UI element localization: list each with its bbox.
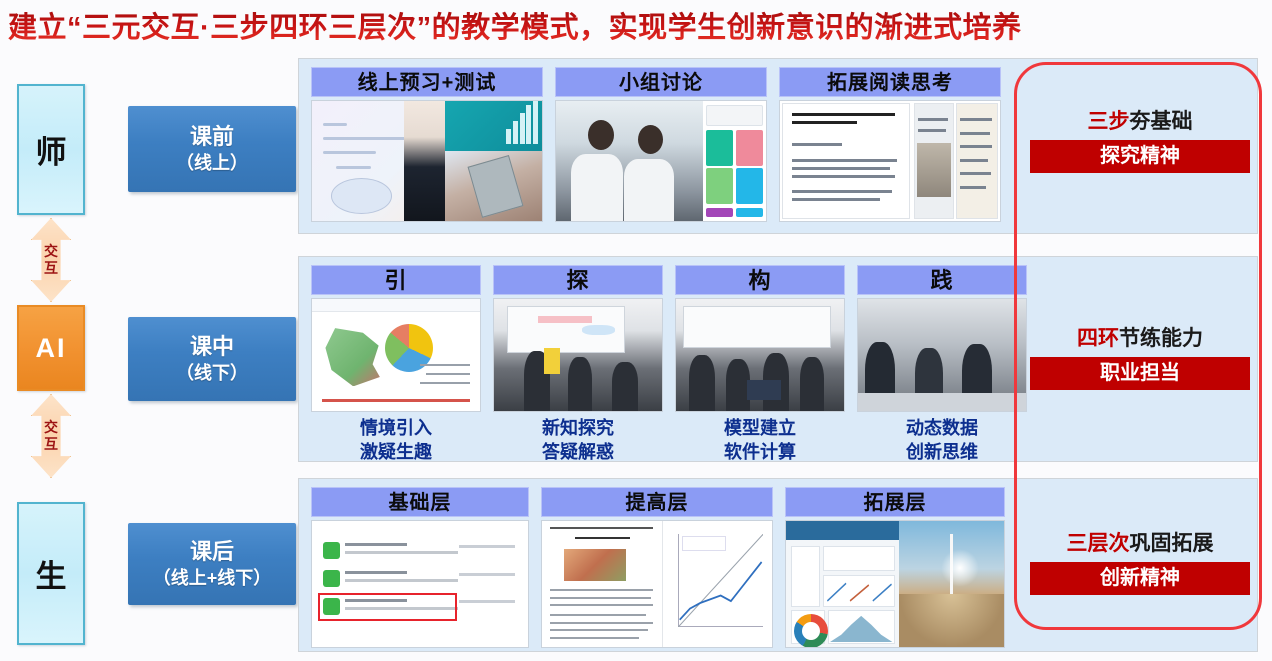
card-thumbnail <box>857 298 1027 412</box>
actor-ai: AI <box>17 305 85 391</box>
students-discussion-photo <box>556 101 703 221</box>
card-thumbnail <box>541 520 773 648</box>
card-title: 拓展阅读思考 <box>779 67 1001 97</box>
card-title: 探 <box>493 265 663 295</box>
summary-tag: 职业担当 <box>1030 357 1250 390</box>
actor-teacher-label: 师 <box>36 127 67 172</box>
china-map-slide-image <box>312 299 480 411</box>
summary-title: 四环节练能力 <box>1030 325 1250 353</box>
card-caption-line1: 动态数据 <box>857 416 1027 440</box>
card-title: 践 <box>857 265 1027 295</box>
summary-rest: 节练能力 <box>1119 327 1203 350</box>
card-thumbnail <box>311 100 543 222</box>
interaction-label-top: 交 <box>44 419 58 436</box>
card-title: 提高层 <box>541 487 773 517</box>
mobile-phone-photo <box>445 151 542 221</box>
card-extended-reading: 拓展阅读思考 <box>779 67 1001 222</box>
summary-title: 三步夯基础 <box>1030 108 1250 136</box>
summary-highlight: 三层次 <box>1067 532 1130 555</box>
line-chart-image <box>662 521 772 647</box>
page-title: 建立“三元交互·三步四环三层次”的教学模式，实现学生创新意识的渐进式培养 <box>8 8 1208 48</box>
card-thumbnail <box>779 100 1001 222</box>
handwriting-scan-2 <box>956 103 998 218</box>
card-step-tan: 探 新知探究 答疑解惑 <box>493 265 663 464</box>
interaction-label-bottom: 互 <box>44 260 58 277</box>
stage-title: 课中 <box>190 333 234 361</box>
card-caption-line1: 新知探究 <box>493 416 663 440</box>
card-thumbnail <box>493 298 663 412</box>
card-advanced-level: 提高层 <box>541 487 773 648</box>
stage-title: 课前 <box>190 123 234 151</box>
card-group-discussion: 小组讨论 <box>555 67 767 222</box>
stage-before-class: 课前 （线上） <box>128 106 296 192</box>
summary-tag: 探究精神 <box>1030 140 1250 173</box>
stage-title: 课后 <box>190 538 234 566</box>
handwriting-scan-1 <box>914 103 954 218</box>
card-title: 引 <box>311 265 481 295</box>
card-title: 拓展层 <box>785 487 1005 517</box>
card-title: 线上预习+测试 <box>311 67 543 97</box>
computer-lab-photo <box>676 299 844 411</box>
stage-during-class: 课中 （线下） <box>128 317 296 401</box>
summary-rest: 巩固拓展 <box>1130 532 1214 555</box>
summary-rest: 夯基础 <box>1130 110 1193 133</box>
card-thumbnail <box>785 520 1005 648</box>
interaction-arrow-top: 交 互 <box>31 218 71 302</box>
interaction-arrow-bottom: 交 互 <box>31 394 71 478</box>
stage-subtitle: （线上） <box>176 151 248 176</box>
card-step-jian: 践 动态数据 创新思维 <box>857 265 1027 464</box>
stage-after-class: 课后 （线上+线下） <box>128 523 296 605</box>
stage-subtitle: （线下） <box>176 361 248 386</box>
card-step-gou: 构 模型建立 软件计算 <box>675 265 845 464</box>
card-basic-level: 基础层 <box>311 487 529 648</box>
interaction-label-top: 交 <box>44 243 58 260</box>
actor-student: 生 <box>17 502 85 645</box>
summary-highlight: 三步 <box>1088 110 1130 133</box>
solar-plant-photo <box>899 521 1004 647</box>
card-caption-line2: 创新思维 <box>857 440 1027 464</box>
students-writing-photo <box>858 299 1026 411</box>
summary-item-three-levels: 三层次巩固拓展 创新精神 <box>1030 530 1250 595</box>
actor-teacher: 师 <box>17 84 85 215</box>
summary-item-three-steps: 三步夯基础 探究精神 <box>1030 108 1250 173</box>
summary-tag: 创新精神 <box>1030 562 1250 595</box>
card-step-yin: 引 情境引入 激疑生趣 <box>311 265 481 464</box>
card-caption-line2: 软件计算 <box>675 440 845 464</box>
actor-ai-label: AI <box>36 333 67 364</box>
actor-student-label: 生 <box>36 551 67 596</box>
card-caption-line1: 模型建立 <box>675 416 845 440</box>
quiz-chart-image <box>445 101 542 151</box>
summary-highlight: 四环 <box>1077 327 1119 350</box>
article-document-image <box>782 103 910 218</box>
card-caption-line1: 情境引入 <box>311 416 481 440</box>
card-thumbnail <box>311 298 481 412</box>
stage-subtitle: （线上+线下） <box>153 566 272 591</box>
card-thumbnail <box>675 298 845 412</box>
card-thumbnail <box>311 520 529 648</box>
sticky-notes-panel <box>703 101 766 221</box>
summary-item-four-links: 四环节练能力 职业担当 <box>1030 325 1250 390</box>
card-title: 构 <box>675 265 845 295</box>
classroom-presentation-photo <box>494 299 662 411</box>
interaction-label-bottom: 互 <box>44 436 58 453</box>
lms-assignment-list-image <box>312 521 528 647</box>
card-title: 小组讨论 <box>555 67 767 97</box>
summary-title: 三层次巩固拓展 <box>1030 530 1250 558</box>
data-dashboard-image <box>786 521 899 647</box>
slide-canvas: 建立“三元交互·三步四环三层次”的教学模式，实现学生创新意识的渐进式培养 师 交… <box>0 0 1272 661</box>
card-caption-line2: 答疑解惑 <box>493 440 663 464</box>
research-paper-image <box>542 521 662 647</box>
card-title: 基础层 <box>311 487 529 517</box>
card-extension-level: 拓展层 <box>785 487 1005 648</box>
card-caption-line2: 激疑生趣 <box>311 440 481 464</box>
card-thumbnail <box>555 100 767 222</box>
card-online-preview: 线上预习+测试 <box>311 67 543 222</box>
